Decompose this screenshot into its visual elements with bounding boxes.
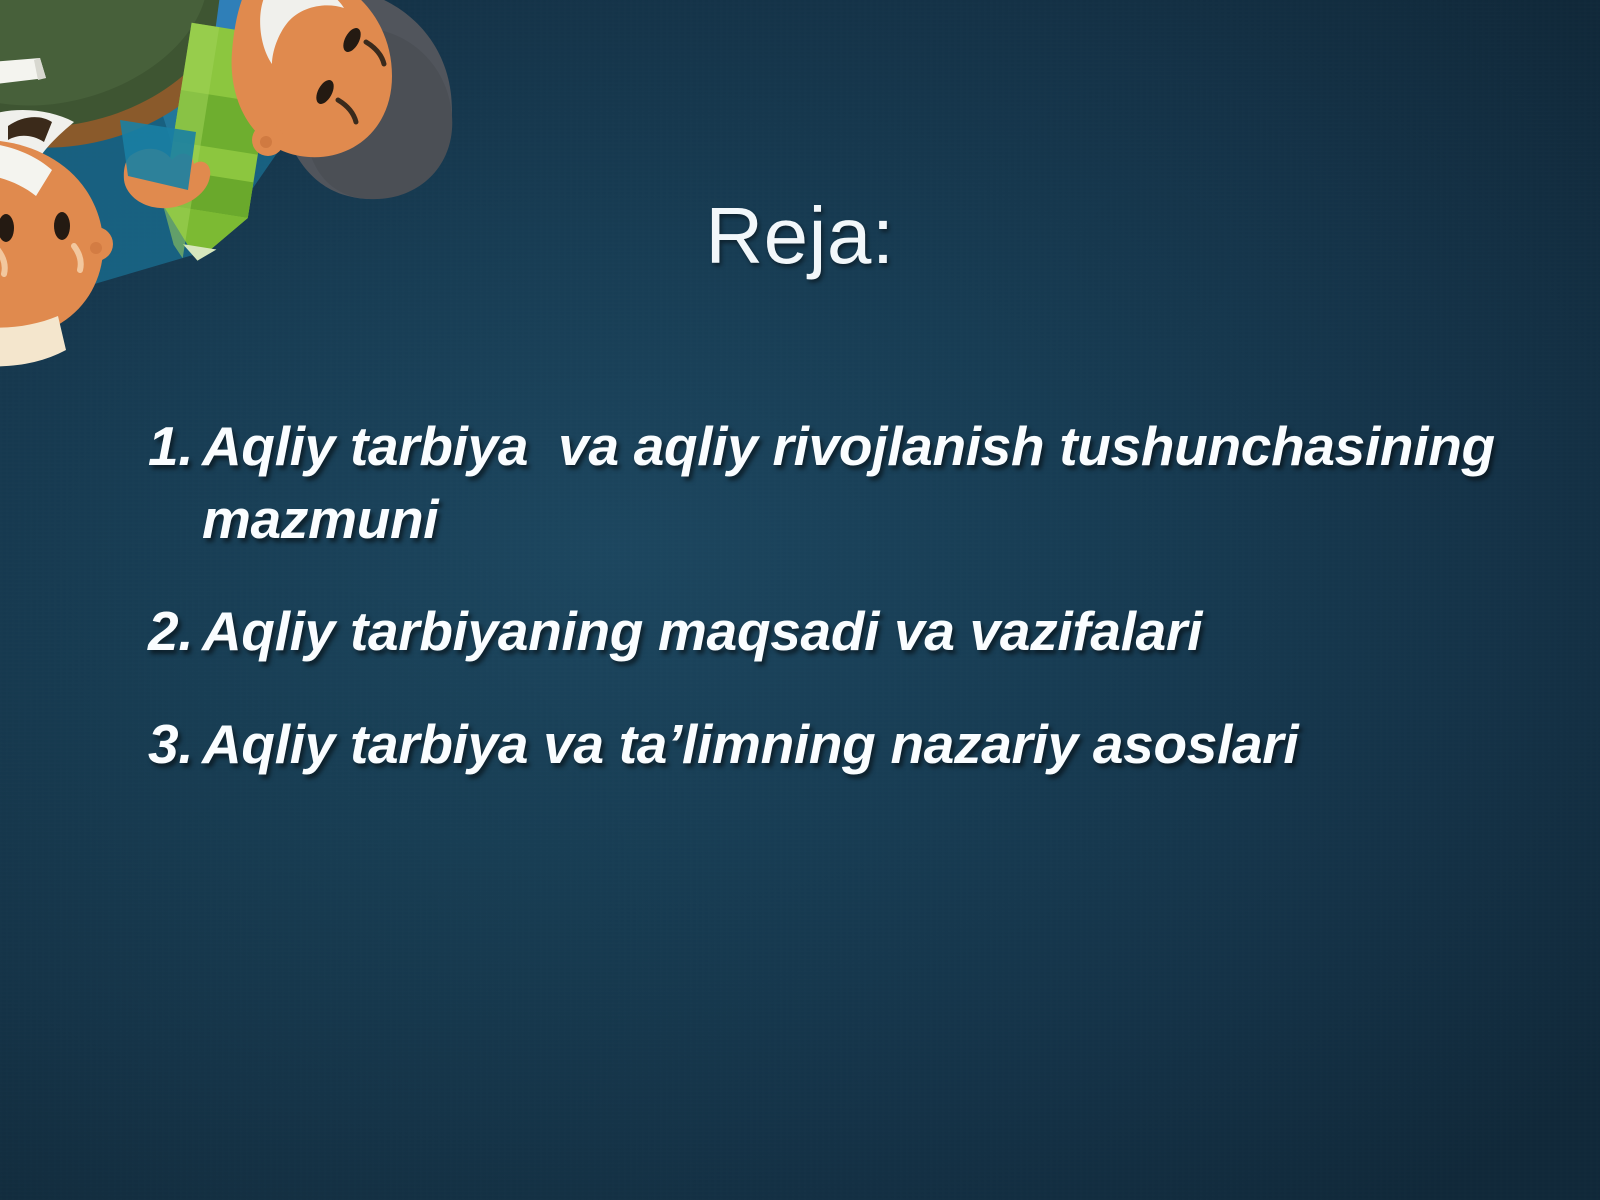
plan-list: 1. Aqliy tarbiya va aqliy rivojlanish tu… <box>140 410 1520 780</box>
list-item-label: Aqliy tarbiyaning maqsadi va vazifalari <box>202 600 1202 662</box>
list-item-number: 1. <box>148 410 193 483</box>
list-item: 1. Aqliy tarbiya va aqliy rivojlanish tu… <box>140 410 1520 555</box>
list-item-label: Aqliy tarbiya va ta’limning nazariy asos… <box>202 713 1298 775</box>
list-item: 3. Aqliy tarbiya va ta’limning nazariy a… <box>140 708 1520 781</box>
list-item: 2. Aqliy tarbiyaning maqsadi va vazifala… <box>140 595 1520 668</box>
presentation-slide: Reja: 1. Aqliy tarbiya va aqliy rivojlan… <box>0 0 1600 1200</box>
list-item-label: Aqliy tarbiya va aqliy rivojlanish tushu… <box>202 415 1510 550</box>
page-title: Reja: <box>0 196 1600 276</box>
list-item-number: 3. <box>148 708 193 781</box>
list-item-number: 2. <box>148 595 193 668</box>
